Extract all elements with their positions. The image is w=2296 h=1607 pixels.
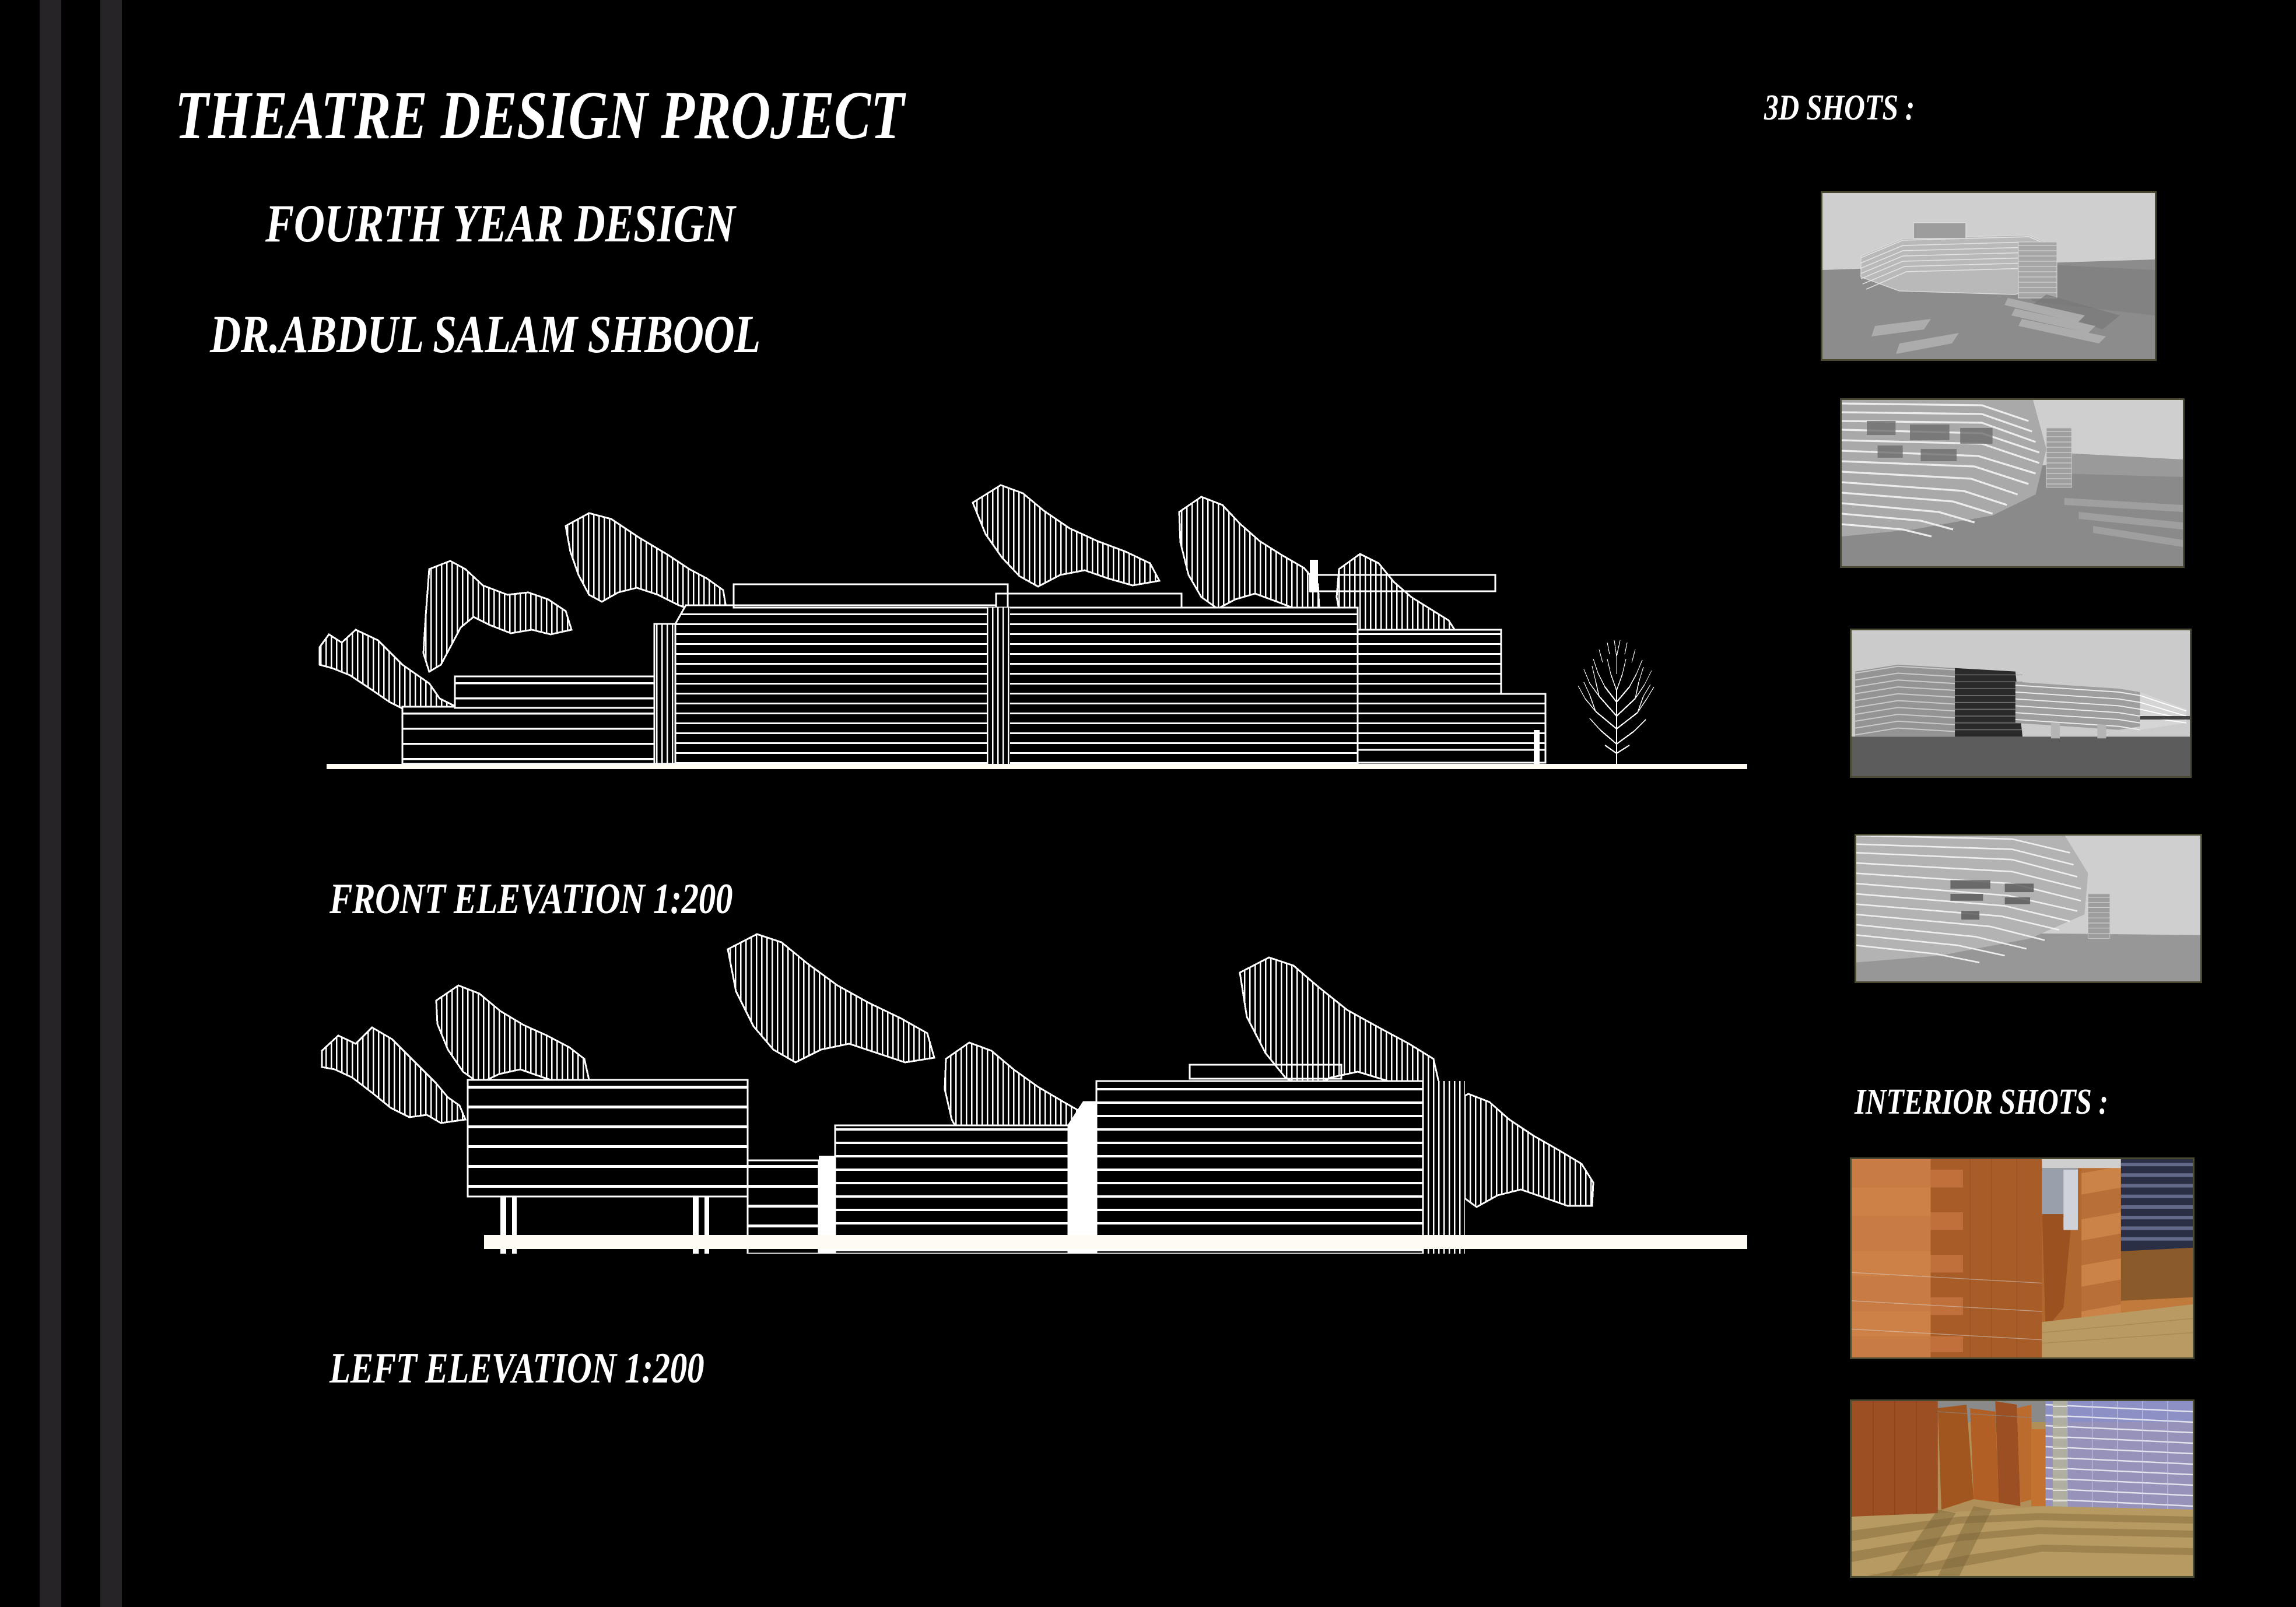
ground-line: [327, 764, 1747, 769]
shots-heading: 3D SHOTS :: [1764, 87, 1915, 129]
left-elevation-drawing: [315, 927, 1761, 1254]
building-masses: [402, 560, 1545, 764]
interior-shot-wood-panelled-lobby[interactable]: [1850, 1157, 2195, 1359]
shot-perspective-curved-louvers[interactable]: [1855, 834, 2202, 983]
page-title: THEATRE DESIGN PROJECT: [175, 76, 904, 155]
subtitle-instructor: DR.ABDUL SALAM SHBOOL: [210, 303, 760, 365]
shot-close-up-curved-louvered-facade[interactable]: [1840, 398, 2185, 568]
left-elevation-label: LEFT ELEVATION 1:200: [329, 1344, 704, 1394]
left-edge-bar-1: [40, 0, 61, 1607]
interior-shot-carpeted-hall-with-glazing[interactable]: [1850, 1399, 2195, 1578]
left-edge-bar-2: [100, 0, 122, 1607]
subtitle-course: FOURTH YEAR DESIGN: [265, 192, 735, 254]
front-elevation-label: FRONT ELEVATION 1:200: [329, 875, 732, 924]
shot-aerial-view-curved-building[interactable]: [1821, 191, 2157, 361]
ground-line: [484, 1235, 1747, 1249]
interior-shots-heading: INTERIOR SHOTS :: [1855, 1082, 2108, 1123]
tree: [1578, 640, 1654, 764]
shot-side-view-cantilever-canopy[interactable]: [1850, 629, 2192, 778]
presentation-board: THEATRE DESIGN PROJECT FOURTH YEAR DESIG…: [0, 0, 2296, 1607]
front-elevation-drawing: [315, 455, 1761, 781]
